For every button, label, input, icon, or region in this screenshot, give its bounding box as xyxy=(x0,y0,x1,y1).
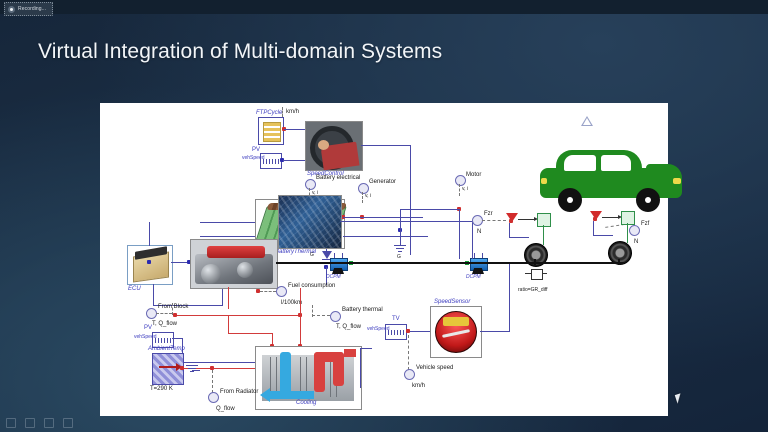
recording-label: Recording... xyxy=(18,6,46,12)
taskbar-icon-4[interactable] xyxy=(63,418,73,428)
tire-model-right-block[interactable] xyxy=(621,211,635,225)
motor-port[interactable] xyxy=(455,175,466,186)
tire-model-left-block[interactable] xyxy=(537,213,551,227)
ftp-cycle-block[interactable] xyxy=(258,117,284,145)
vehicle-illustration xyxy=(540,150,682,210)
ambient-temp-label: AmbientTemp xyxy=(148,346,185,352)
wire-gnd-down xyxy=(400,231,401,245)
wire-engine-bottom-up xyxy=(222,286,223,306)
wire-force-right-h xyxy=(593,235,613,236)
vehicle-speed-unit: km/h xyxy=(412,383,425,389)
wire-speedsensor-out xyxy=(480,331,510,332)
generator-unit: v, i xyxy=(365,194,371,199)
node-speedsensor xyxy=(406,329,410,333)
dcpm-motor-block[interactable] xyxy=(468,258,490,274)
wire-motor-bus2 xyxy=(400,221,472,222)
taskbar-icon-3[interactable] xyxy=(44,418,54,428)
cooling-label: Cooling xyxy=(296,400,316,406)
ground-ambient-icon xyxy=(186,365,198,373)
battery-thermal-port[interactable] xyxy=(330,311,341,322)
wire-force-left-h xyxy=(509,237,529,238)
generator-image[interactable] xyxy=(278,195,342,249)
wire-ecu-up xyxy=(149,222,150,246)
wire-motor xyxy=(459,184,460,196)
wire-force-right-down xyxy=(593,221,594,235)
node-thermal-left xyxy=(173,313,177,317)
ground-right-label: G xyxy=(397,255,401,260)
battery-thermal-sig-label: Battery thermal xyxy=(342,307,383,313)
wire-battery-left-in2 xyxy=(200,236,255,237)
fzr-label: Fzr xyxy=(484,211,493,217)
tv-sensor-label: TV xyxy=(392,316,400,322)
force-direction-right-icon xyxy=(602,217,618,218)
pv-cooling-label: PV xyxy=(144,325,152,331)
wire-driver-out xyxy=(361,145,411,146)
ratio-diff-label: ratio=GR_diff xyxy=(518,288,548,293)
window-top-bar xyxy=(0,0,768,14)
page-title: Virtual Integration of Multi-domain Syst… xyxy=(38,40,442,64)
from-radiator-port[interactable] xyxy=(208,392,219,403)
wire-vehicle-speed xyxy=(408,335,409,370)
node-ecu-out xyxy=(147,260,151,264)
force-direction-left-icon xyxy=(518,219,534,220)
dcpm-generator-label: DCPM xyxy=(326,275,341,280)
fzf-label: Fzf xyxy=(641,221,649,227)
fzf-port[interactable] xyxy=(629,225,640,236)
taskbar-icon-2[interactable] xyxy=(25,418,35,428)
from-radiator-label: From Radiator xyxy=(220,389,258,395)
wire-ecu-down xyxy=(153,284,154,305)
wire-motor-bus xyxy=(400,209,459,210)
wire-battery-thermal-v xyxy=(312,305,313,317)
fuel-consumption-port[interactable] xyxy=(276,286,287,297)
ftp-cycle-label: FTPCycle xyxy=(256,110,282,116)
screen: Recording... Virtual Integration of Mult… xyxy=(0,0,768,432)
speed-sensor-image[interactable] xyxy=(430,306,482,358)
ground-left-label: G xyxy=(310,253,314,258)
wire-generator xyxy=(362,192,363,203)
wire-tire-left-down xyxy=(543,225,544,245)
wire-cooler-right-h xyxy=(360,348,372,349)
wire-fzr xyxy=(482,220,506,221)
from-block-unit: T, Q_flow xyxy=(152,321,177,327)
fzr-unit: N xyxy=(477,229,481,235)
wire-battery-bus-top xyxy=(343,217,423,218)
veh-speed-top-label: vehSpeed xyxy=(242,156,265,161)
ecu-label: ECU xyxy=(128,286,141,292)
wire-battery-thermal xyxy=(312,315,330,316)
ambient-value-label: T=290 K xyxy=(150,386,173,392)
speed-sensor-label: SpeedSensor xyxy=(434,299,470,305)
differential-symbol[interactable] xyxy=(525,269,547,287)
wire-battery-left-in xyxy=(200,222,255,223)
wire-thermal-to-cool xyxy=(228,315,229,333)
vehicle-speed-label: Vehicle speed xyxy=(416,365,453,371)
dcpm-motor-label: DCPM xyxy=(466,275,481,280)
wire-motor-down2 xyxy=(472,221,473,259)
fzf-unit: N xyxy=(634,239,638,245)
from-block-label: From Block xyxy=(158,304,188,310)
recording-indicator[interactable]: Recording... xyxy=(4,2,53,16)
wire-pv-cool xyxy=(172,338,182,339)
engine-image[interactable] xyxy=(190,239,278,289)
wire-axle xyxy=(514,262,624,264)
wire-ambient-cooler xyxy=(214,368,256,369)
battery-electrical-label: Battery electrical xyxy=(316,175,360,181)
wire-fuel xyxy=(260,291,276,292)
wire-hub-right xyxy=(618,259,620,265)
vehicle-speed-port[interactable] xyxy=(404,369,415,380)
taskbar-icons[interactable] xyxy=(6,418,73,428)
wire-battery-bus-bottom xyxy=(343,236,428,237)
pv-top-label: PV xyxy=(252,147,260,153)
wire-thermal-cool-h xyxy=(228,333,272,334)
motor-unit: v, i xyxy=(462,187,468,192)
wire-motor-down xyxy=(459,209,460,259)
speed-control-image[interactable] xyxy=(305,121,363,171)
wire-thermal-bus xyxy=(175,315,300,316)
wire-generator-down xyxy=(410,221,411,239)
veh-speed-sensor-label: vehSpeed xyxy=(367,327,390,332)
generator-label: Generator xyxy=(369,179,396,185)
fuel-consumption-label: Fuel consumption xyxy=(288,283,335,289)
wire-tire-right-down xyxy=(627,223,628,243)
dcpm-generator-block[interactable] xyxy=(328,258,350,274)
wire-cooler-right xyxy=(360,348,361,388)
triangle-outline-icon xyxy=(581,116,593,126)
ground-symbol-icon xyxy=(394,245,406,253)
kmh-top-label: km/h xyxy=(286,109,299,115)
taskbar-icon-1[interactable] xyxy=(6,418,16,428)
wire-hub-left xyxy=(534,259,536,265)
wire-from-radiator-v xyxy=(212,370,213,393)
wire-speedsensor-up xyxy=(509,264,510,332)
wire-from-block xyxy=(156,313,172,314)
veh-speed-cooling-label: vehSpeed xyxy=(134,335,157,340)
wire-gnd-up xyxy=(400,209,401,231)
wire-thermal-right-down xyxy=(300,315,301,347)
wire-thermal-right-up xyxy=(300,288,301,316)
fuel-unit-label: l/100km xyxy=(281,300,302,306)
diagram-canvas: FTPCycle km/h PV vehSpeed SpeedControl B… xyxy=(100,103,668,416)
record-dot-icon xyxy=(8,6,15,13)
wire-pv-cool-h2 xyxy=(182,362,255,363)
wire-force-left-down xyxy=(509,223,510,237)
battery-thermal-unit: T, Q_flow xyxy=(336,324,361,330)
wire-ftp-kmh xyxy=(282,107,283,117)
ecu-block[interactable] xyxy=(127,245,173,285)
motor-label: Motor xyxy=(466,172,481,178)
battery-electrical-port[interactable] xyxy=(305,179,316,190)
from-radiator-unit: Q_flow xyxy=(216,406,235,412)
wire-thermal-engine xyxy=(228,287,229,309)
